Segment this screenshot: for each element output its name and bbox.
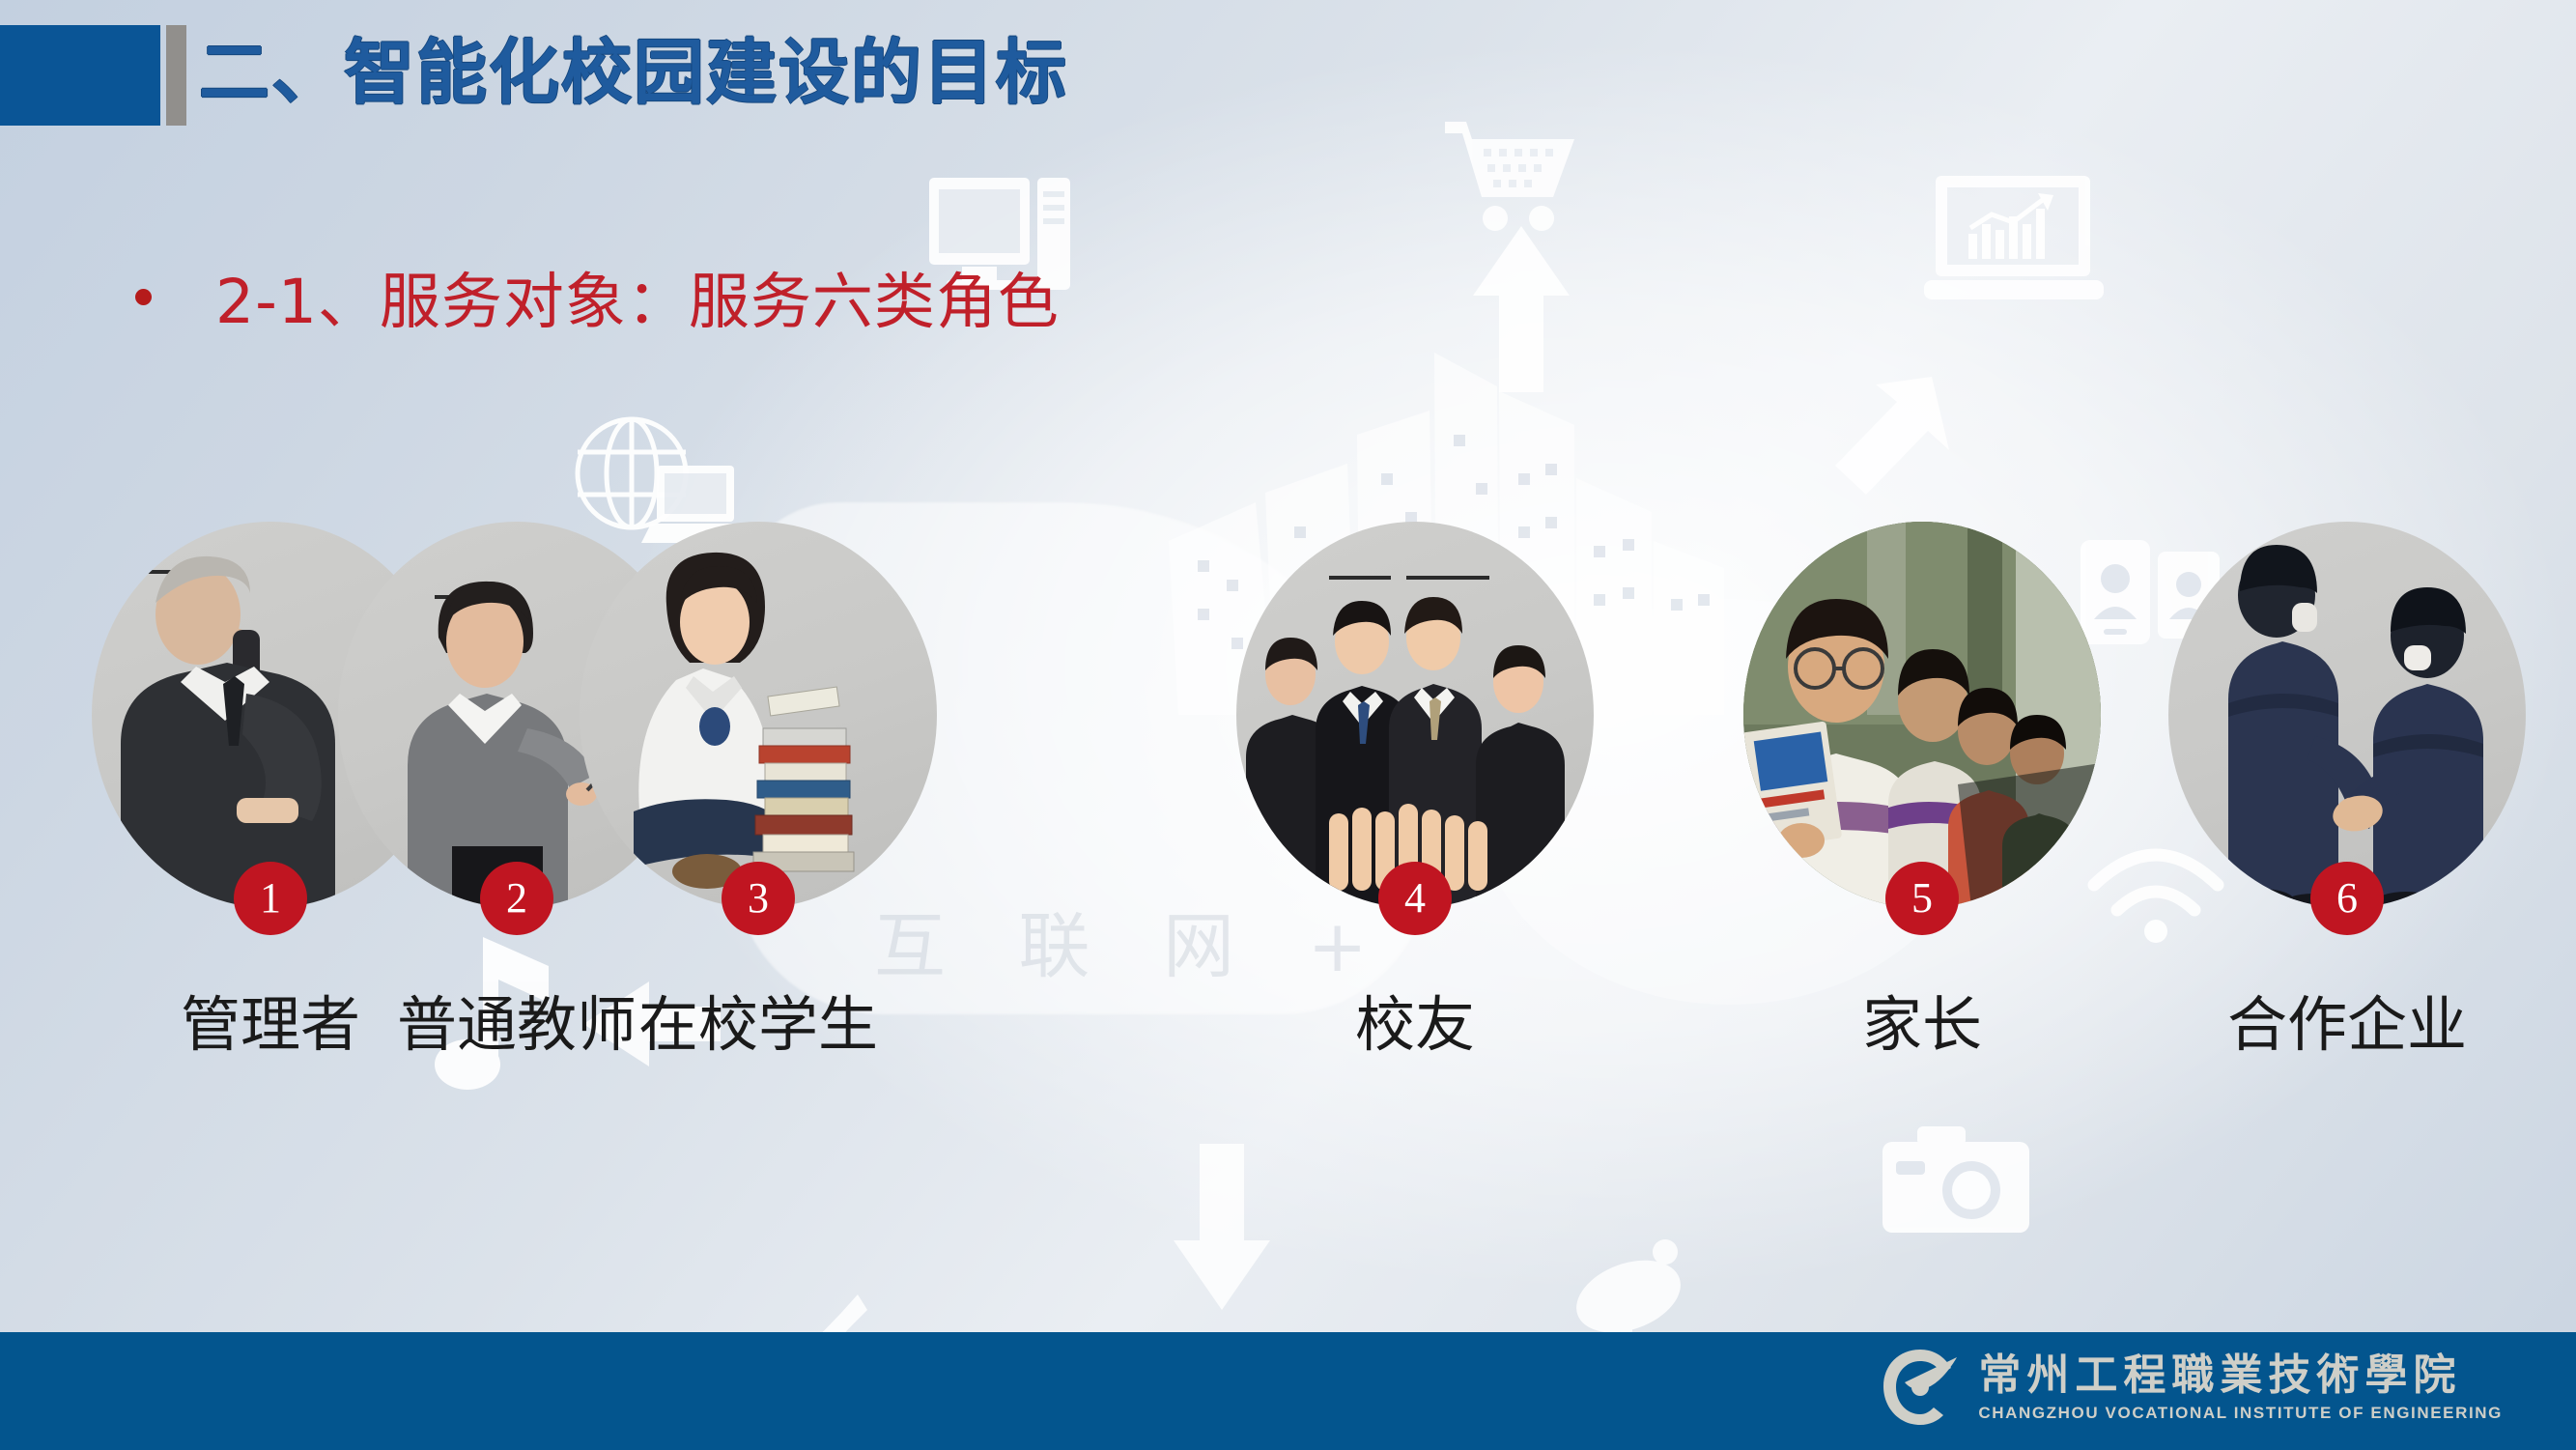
role-photo-4 [1236,522,1594,908]
role-badge-5: 5 [1885,862,1959,935]
role-item-5[interactable]: 5 家长 [1743,522,2101,908]
role-badge-2: 2 [480,862,553,935]
subtitle-row: 2-1、服务对象：服务六类角色 [135,253,1060,341]
page-title: 二、智能化校园建设的目标 [199,15,1068,118]
role-badge-1: 1 [234,862,307,935]
bullet-dot-icon [135,289,152,305]
institution-name-en: CHANGZHOU VOCATIONAL INSTITUTE OF ENGINE… [1978,1404,2503,1423]
role-badge-4: 4 [1378,862,1452,935]
role-circle-group: 1 管理者 [0,522,2576,1198]
role-item-6[interactable]: 6 合作企业 [2168,522,2526,908]
role-item-4[interactable]: 4 校友 [1236,522,1594,908]
role-photo-5 [1743,522,2101,908]
role-label-4: 校友 [1236,976,1594,1063]
laptop-chart-icon [1922,174,2106,309]
arrow-diagonal-icon [1816,367,1961,512]
header-accent-bar [166,25,186,126]
subtitle-text: 2-1、服务对象：服务六类角色 [215,253,1060,341]
role-badge-3: 3 [722,862,795,935]
role-item-3[interactable]: 3 在校学生 [580,522,937,908]
footer-bar: 常州工程職業技術學院 CHANGZHOU VOCATIONAL INSTITUT… [0,1332,2576,1450]
role-label-3: 在校学生 [580,976,937,1063]
arrow-up-icon [1468,222,1574,396]
role-label-6: 合作企业 [2168,976,2526,1063]
role-badge-6: 6 [2310,862,2384,935]
role-label-5: 家长 [1743,976,2101,1063]
institution-logo: 常州工程職業技術學院 CHANGZHOU VOCATIONAL INSTITUT… [1876,1344,2503,1433]
role-photo-6 [2168,522,2526,908]
header-accent-block [0,25,160,126]
role-photo-3 [580,522,937,908]
institution-name-cn: 常州工程職業技術學院 [1978,1353,2503,1398]
shopping-cart-icon [1439,116,1584,242]
slide-canvas: 互 联 网 + 二、智能化校园建设的目标 2-1、服务对象：服务六类角色 [0,0,2576,1450]
institution-logo-icon [1876,1344,1965,1433]
